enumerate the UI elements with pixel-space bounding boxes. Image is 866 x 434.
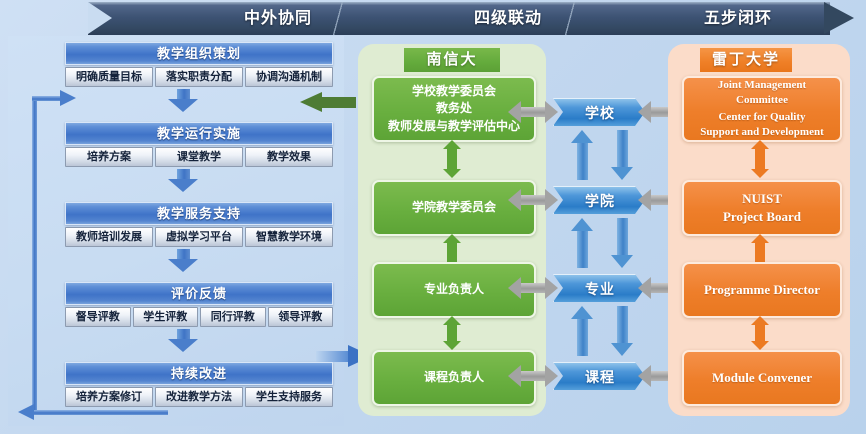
stage-group-3[interactable]: 教学服务支持 教师培训发展 虚拟学习平台 智慧教学环境 bbox=[65, 202, 333, 247]
level-arrows-2 bbox=[569, 218, 635, 268]
stage-title-5: 持续改进 bbox=[65, 362, 333, 385]
green-double-arrow-icon-3 bbox=[444, 316, 460, 350]
header-banner: 中外协同 四级联动 五步闭环 bbox=[88, 2, 858, 35]
stage-group-1[interactable]: 教学组织策划 明确质量目标 落实职责分配 协调沟通机制 bbox=[65, 42, 333, 87]
sub-box[interactable]: 协调沟通机制 bbox=[245, 67, 333, 87]
green-box-1-line-3: 教师发展与教学评估中心 bbox=[388, 118, 520, 135]
green-panel-title: 南信大 bbox=[404, 48, 500, 72]
stage-title-3: 教学服务支持 bbox=[65, 202, 333, 225]
stage-group-2[interactable]: 教学运行实施 培养方案 课堂教学 教学效果 bbox=[65, 122, 333, 167]
stage-subs-2: 培养方案 课堂教学 教学效果 bbox=[65, 147, 333, 167]
sub-box[interactable]: 学生评教 bbox=[133, 307, 199, 327]
diagram-canvas: 中外协同 四级联动 五步闭环 教学组织策划 明确质量目标 落实职责分配 协调沟通… bbox=[0, 0, 866, 434]
sub-box[interactable]: 课堂教学 bbox=[155, 147, 243, 167]
sub-box[interactable]: 学生支持服务 bbox=[245, 387, 333, 407]
orange-box-3[interactable]: Programme Director bbox=[682, 262, 842, 318]
banner-label-3: 五步闭环 bbox=[658, 8, 818, 29]
sub-box[interactable]: 培养方案 bbox=[65, 147, 153, 167]
stage-subs-5: 培养方案修订 改进教学方法 学生支持服务 bbox=[65, 387, 333, 407]
orange-box-1-line-1: Joint Management bbox=[718, 78, 806, 93]
arrow-up-icon bbox=[569, 218, 595, 268]
feedback-loop-line bbox=[32, 98, 37, 415]
sub-box[interactable]: 督导评教 bbox=[65, 307, 131, 327]
level-arrows-3 bbox=[569, 306, 635, 356]
stage-title-1: 教学组织策划 bbox=[65, 42, 333, 65]
stage-title-2: 教学运行实施 bbox=[65, 122, 333, 145]
link-arrow-green-blue-3 bbox=[508, 277, 558, 299]
flow-down-arrow-icon bbox=[168, 169, 198, 192]
orange-box-2-line-1: NUIST bbox=[742, 190, 782, 208]
orange-box-2-line-2: Project Board bbox=[723, 208, 801, 226]
banner-label-1: 中外协同 bbox=[198, 8, 358, 29]
sub-box[interactable]: 同行评教 bbox=[200, 307, 266, 327]
stage-subs-4: 督导评教 学生评教 同行评教 领导评教 bbox=[65, 307, 333, 327]
green-box-3-line-1: 专业负责人 bbox=[424, 281, 484, 298]
arrow-down-icon bbox=[609, 218, 635, 268]
arrow-down-icon bbox=[609, 130, 635, 180]
stage-subs-1: 明确质量目标 落实职责分配 协调沟通机制 bbox=[65, 67, 333, 87]
orange-box-1-line-2: Committee bbox=[736, 93, 788, 108]
feedback-loop-bottom bbox=[32, 410, 168, 415]
green-to-left-arrow-icon bbox=[300, 92, 356, 112]
arrow-up-icon bbox=[569, 130, 595, 180]
orange-box-1[interactable]: Joint Management Committee Center for Qu… bbox=[682, 76, 842, 142]
level-label-2: 学院 bbox=[585, 191, 615, 211]
link-arrow-green-blue-2 bbox=[508, 189, 558, 211]
sub-box[interactable]: 落实职责分配 bbox=[155, 67, 243, 87]
sub-box[interactable]: 虚拟学习平台 bbox=[155, 227, 243, 247]
orange-box-3-line-1: Programme Director bbox=[704, 281, 820, 299]
orange-panel-title: 雷丁大学 bbox=[700, 48, 792, 72]
level-chevron-4[interactable]: 课程 bbox=[553, 362, 647, 392]
sub-box[interactable]: 改进教学方法 bbox=[155, 387, 243, 407]
orange-box-1-line-3: Center for Quality bbox=[719, 110, 806, 125]
sub-box[interactable]: 领导评教 bbox=[268, 307, 334, 327]
stage-group-5[interactable]: 持续改进 培养方案修订 改进教学方法 学生支持服务 bbox=[65, 362, 333, 407]
left-flow-panel: 教学组织策划 明确质量目标 落实职责分配 协调沟通机制 教学运行实施 培养方案 … bbox=[8, 36, 344, 426]
flow-down-arrow-icon bbox=[168, 89, 198, 112]
level-label-4: 课程 bbox=[585, 367, 615, 387]
feedback-arrow-left-icon bbox=[18, 404, 34, 420]
banner-notch-left bbox=[88, 2, 112, 34]
level-chevron-2[interactable]: 学院 bbox=[553, 186, 647, 216]
green-box-2-line-1: 学院教学委员会 bbox=[412, 199, 496, 216]
orange-double-arrow-icon-1 bbox=[752, 140, 768, 178]
link-arrow-green-blue-1 bbox=[508, 101, 558, 123]
sub-box[interactable]: 教学效果 bbox=[245, 147, 333, 167]
flow-down-arrow-icon bbox=[168, 249, 198, 272]
sub-box[interactable]: 培养方案修订 bbox=[65, 387, 153, 407]
orange-double-arrow-icon-3 bbox=[752, 316, 768, 350]
arrow-up-icon bbox=[569, 306, 595, 356]
orange-box-1-line-4: Support and Development bbox=[700, 125, 823, 140]
level-label-1: 学校 bbox=[585, 103, 615, 123]
orange-box-4[interactable]: Module Convener bbox=[682, 350, 842, 406]
green-box-1-line-2: 教务处 bbox=[436, 100, 472, 117]
green-double-arrow-icon-1 bbox=[444, 140, 460, 178]
level-arrows-1 bbox=[569, 130, 635, 180]
sub-box[interactable]: 教师培训发展 bbox=[65, 227, 153, 247]
level-chevron-3[interactable]: 专业 bbox=[553, 274, 647, 304]
flow-down-arrow-icon bbox=[168, 329, 198, 352]
stage-group-4[interactable]: 评价反馈 督导评教 学生评教 同行评教 领导评教 bbox=[65, 282, 333, 327]
sub-box[interactable]: 明确质量目标 bbox=[65, 67, 153, 87]
banner-arrow-tip bbox=[824, 2, 854, 34]
arrow-down-icon bbox=[609, 306, 635, 356]
level-label-3: 专业 bbox=[585, 279, 615, 299]
feedback-arrow-right-icon bbox=[60, 90, 76, 106]
stage-subs-3: 教师培训发展 虚拟学习平台 智慧教学环境 bbox=[65, 227, 333, 247]
level-chevron-1[interactable]: 学校 bbox=[553, 98, 647, 128]
sub-box[interactable]: 智慧教学环境 bbox=[245, 227, 333, 247]
link-arrow-green-blue-4 bbox=[508, 365, 558, 387]
green-box-1-line-1: 学校教学委员会 bbox=[412, 83, 496, 100]
banner-label-2: 四级联动 bbox=[428, 8, 588, 29]
orange-box-2[interactable]: NUIST Project Board bbox=[682, 180, 842, 236]
green-box-4-line-1: 课程负责人 bbox=[424, 369, 484, 386]
orange-box-4-line-1: Module Convener bbox=[712, 369, 812, 387]
stage-title-4: 评价反馈 bbox=[65, 282, 333, 305]
